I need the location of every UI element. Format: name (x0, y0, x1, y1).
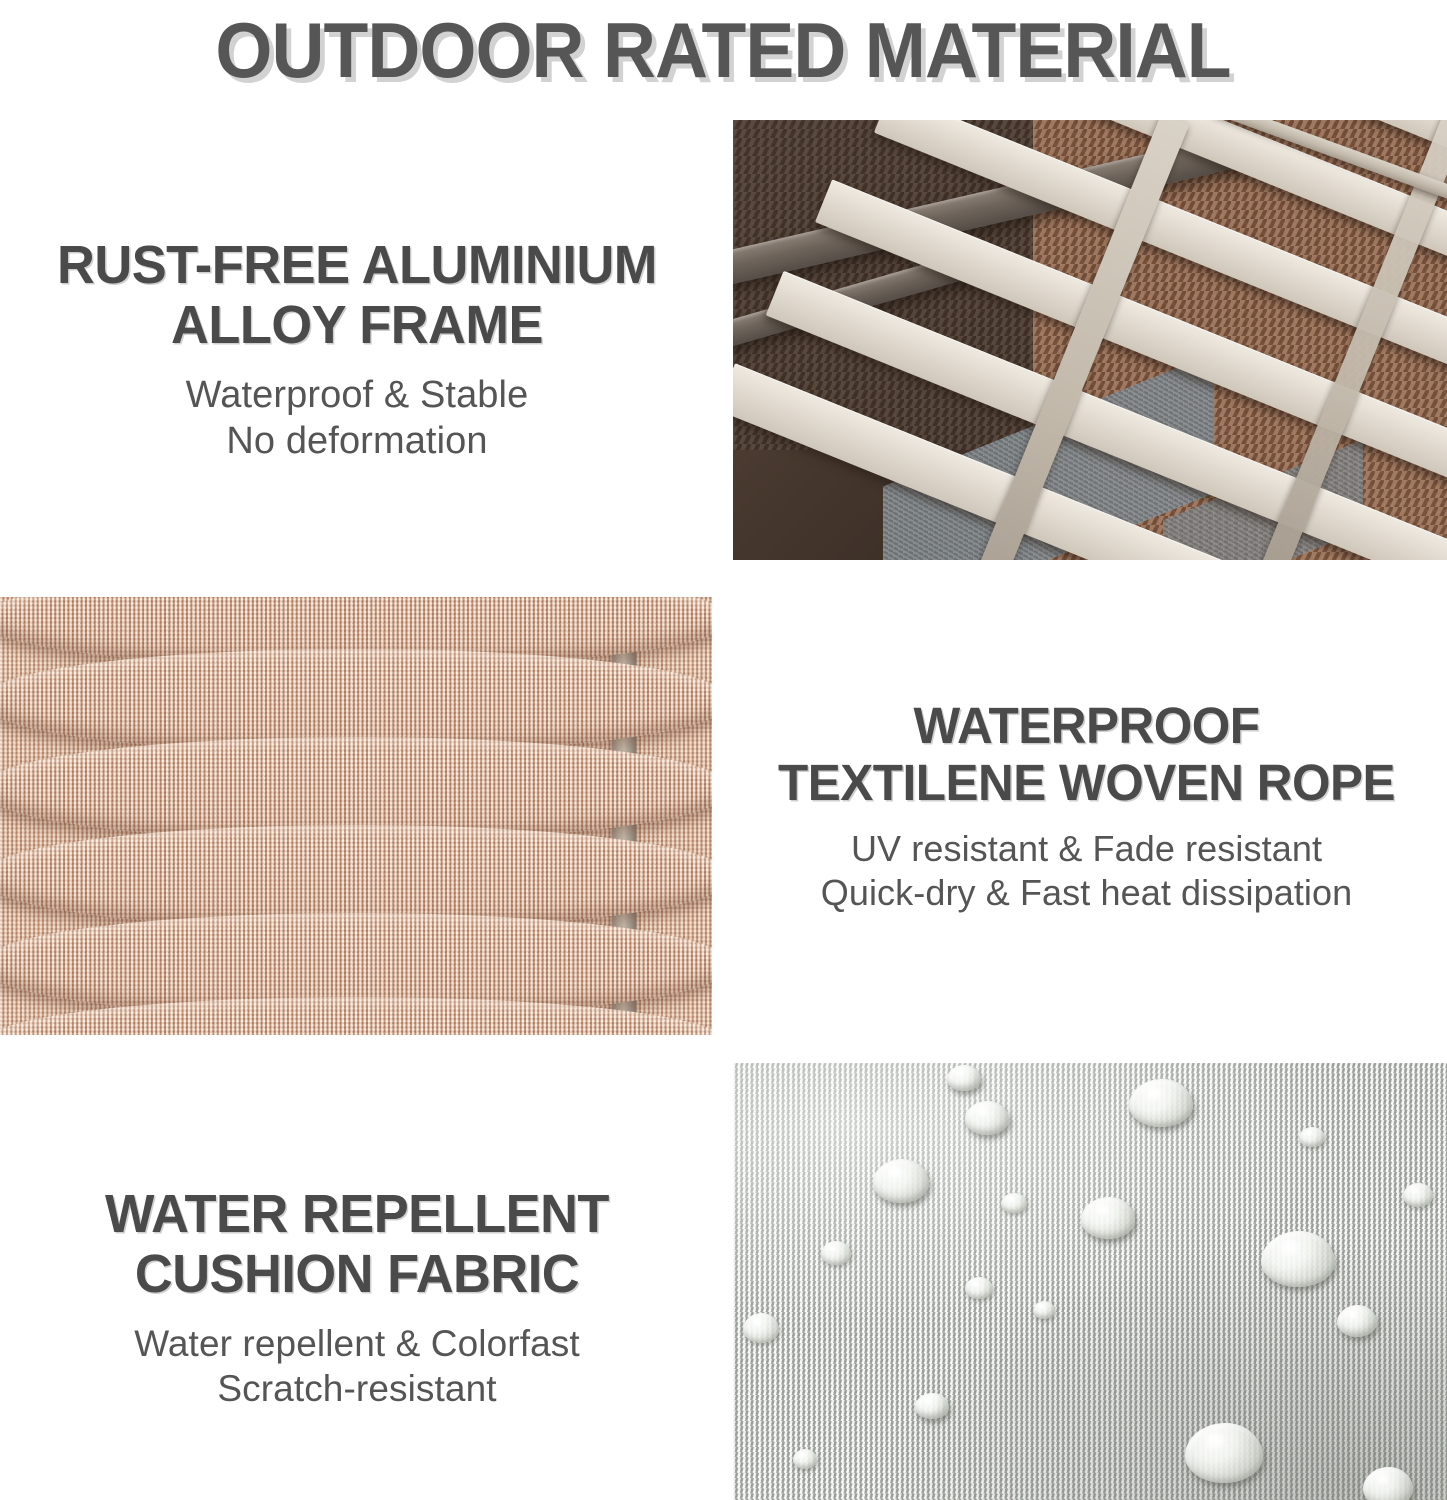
woven-rope-texture-photo (0, 597, 712, 1035)
feature-heading: RUST-FREE ALUMINIUM ALLOY FRAME (11, 236, 704, 356)
feature-subtext: UV resistant & Fade resistant Quick-dry … (726, 827, 1447, 915)
page-title: OUTDOOR RATED MATERIAL (216, 11, 1231, 89)
feature-heading: WATERPROOF TEXTILENE WOVEN ROPE (737, 698, 1436, 811)
feature-text-cushion-fabric: WATER REPELLENT CUSHION FABRIC Water rep… (0, 1185, 714, 1411)
aluminium-slat-frame-photo (733, 120, 1447, 560)
feature-subtext: Waterproof & Stable No deformation (0, 372, 714, 465)
infographic-page: OUTDOOR RATED MATERIAL RUST-FREE ALUMINI… (0, 0, 1447, 1500)
feature-text-aluminium-frame: RUST-FREE ALUMINIUM ALLOY FRAME Waterpro… (0, 236, 714, 465)
water-droplet-fabric-photo (733, 1063, 1447, 1500)
feature-subtext: Water repellent & Colorfast Scratch-resi… (0, 1321, 714, 1411)
feature-heading: WATER REPELLENT CUSHION FABRIC (11, 1185, 704, 1305)
banner: OUTDOOR RATED MATERIAL (0, 0, 1447, 100)
feature-text-textilene-rope: WATERPROOF TEXTILENE WOVEN ROPE UV resis… (726, 698, 1447, 915)
